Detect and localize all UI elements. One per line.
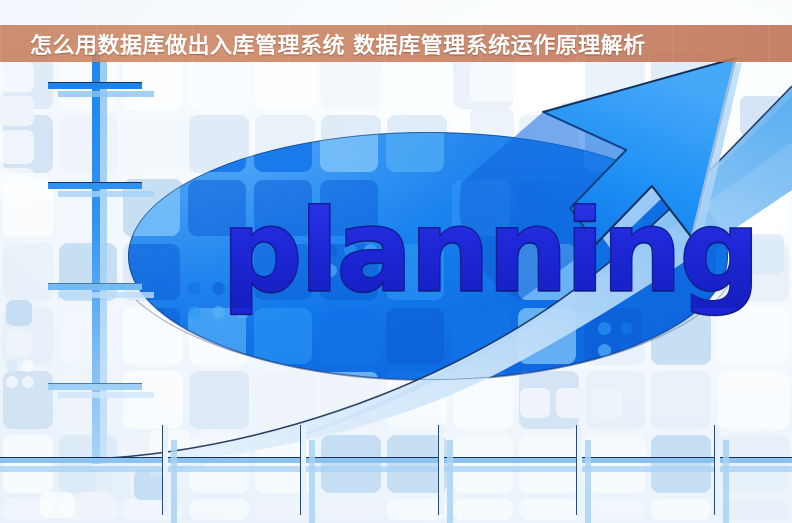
- x-tick-shadow: [585, 440, 591, 523]
- x-tick-shadow: [447, 440, 453, 523]
- y-tick-shadow: [58, 191, 154, 197]
- y-axis: [92, 52, 100, 464]
- y-tick: [48, 283, 142, 290]
- y-tick-shadow: [58, 392, 154, 398]
- x-axis-shadow: [0, 466, 792, 472]
- y-tick: [48, 182, 142, 189]
- x-tick-shadow: [171, 440, 177, 523]
- x-tick: [438, 425, 444, 515]
- graphic-banner: planning planning 怎么用数据库做出入库管理系统 数据库管理系统…: [0, 0, 792, 523]
- y-tick-shadow: [58, 292, 154, 298]
- hero-word-outline: planning: [222, 196, 758, 308]
- y-axis-shadow: [100, 60, 107, 464]
- y-tick-shadow: [58, 91, 154, 97]
- x-tick: [300, 425, 306, 515]
- title-band: 怎么用数据库做出入库管理系统 数据库管理系统运作原理解析: [0, 25, 792, 62]
- x-tick: [576, 425, 582, 515]
- page-title: 怎么用数据库做出入库管理系统 数据库管理系统运作原理解析: [30, 28, 646, 60]
- y-tick: [48, 82, 142, 89]
- x-tick-shadow: [309, 440, 315, 523]
- y-tick: [48, 383, 142, 390]
- x-axis: [0, 457, 792, 463]
- x-tick-shadow: [723, 440, 729, 523]
- x-tick: [162, 425, 168, 515]
- x-tick: [714, 425, 720, 515]
